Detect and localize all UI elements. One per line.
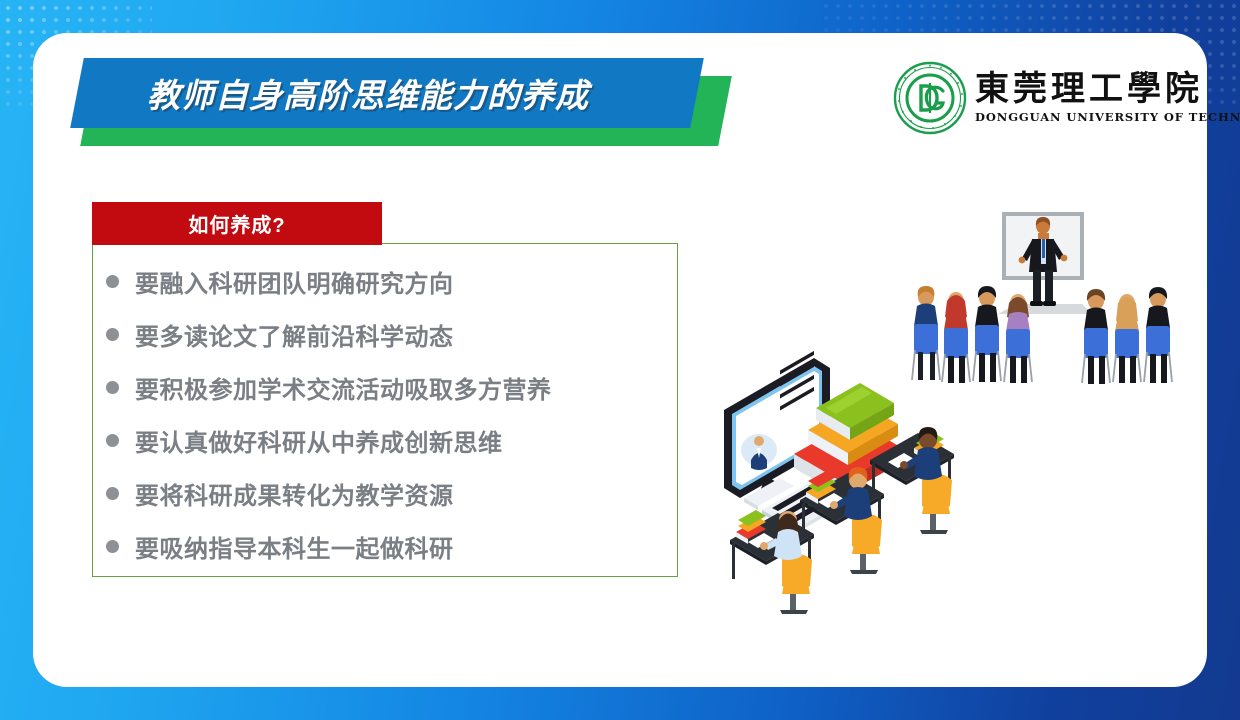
title-banner: 教师自身高阶思维能力的养成 [63,58,728,146]
bullet-dot-icon [106,540,119,553]
bullet-list: 要融入科研团队明确研究方向 要多读论文了解前沿科学动态 要积极参加学术交流活动吸… [106,255,666,573]
list-item: 要多读论文了解前沿科学动态 [106,308,666,361]
bullet-dot-icon [106,487,119,500]
list-item-label: 要融入科研团队明确研究方向 [135,264,454,299]
slide: 教师自身高阶思维能力的养成 [0,0,1240,720]
university-seal-icon [893,61,967,135]
panel-heading-box: 如何养成? [92,202,382,245]
university-name-block: 東莞理工學院 DONGGUAN UNIVERSITY OF TECHNOLOGY [975,72,1240,125]
title-banner-blue-shape: 教师自身高阶思维能力的养成 [70,58,704,128]
university-name-en: DONGGUAN UNIVERSITY OF TECHNOLOGY [975,110,1240,124]
bullet-dot-icon [106,434,119,447]
list-item: 要吸纳指导本科生一起做科研 [106,520,666,573]
bullet-dot-icon [106,275,119,288]
panel-heading-text: 如何养成? [188,209,285,238]
elearning-classroom-illustration [722,338,987,586]
list-item-label: 要多读论文了解前沿科学动态 [135,317,454,352]
list-item: 要将科研成果转化为教学资源 [106,467,666,520]
page-title: 教师自身高阶思维能力的养成 [147,69,589,117]
university-logo: 東莞理工學院 DONGGUAN UNIVERSITY OF TECHNOLOGY [893,58,1175,138]
list-item-label: 要积极参加学术交流活动吸取多方营养 [135,370,552,405]
university-name-cn: 東莞理工學院 [975,72,1240,108]
list-item: 要认真做好科研从中养成创新思维 [106,414,666,467]
list-item: 要融入科研团队明确研究方向 [106,255,666,308]
bullet-dot-icon [106,381,119,394]
list-item-label: 要认真做好科研从中养成创新思维 [135,423,503,458]
audience-right [1082,287,1172,384]
list-item-label: 要吸纳指导本科生一起做科研 [135,529,454,564]
bullet-dot-icon [106,328,119,341]
list-item-label: 要将科研成果转化为教学资源 [135,476,454,511]
list-item: 要积极参加学术交流活动吸取多方营养 [106,361,666,414]
